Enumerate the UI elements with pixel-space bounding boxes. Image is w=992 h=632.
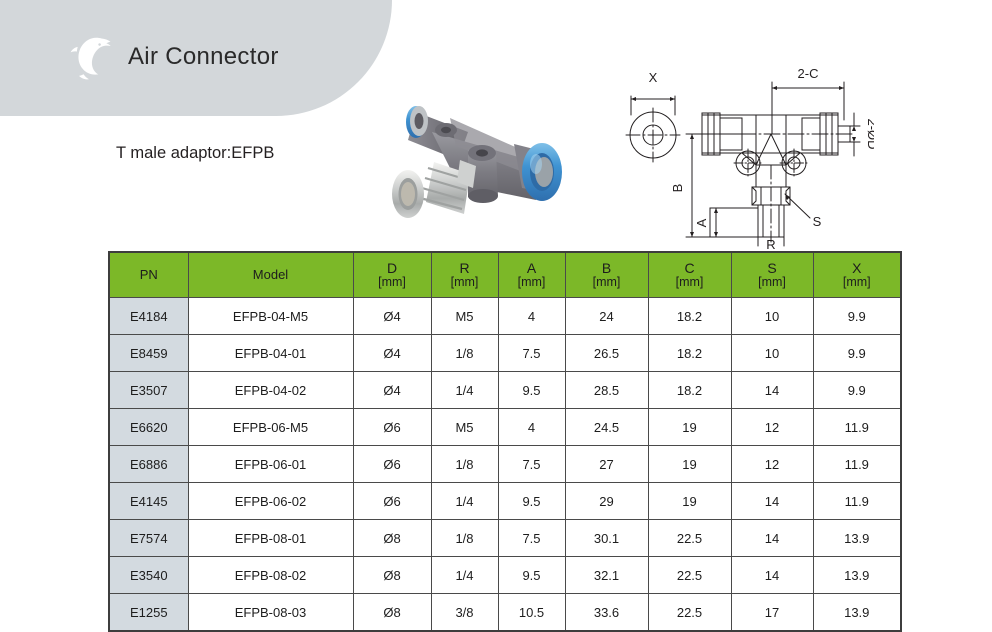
table-cell-x: 9.9 [813, 372, 901, 409]
table-cell-b: 30.1 [565, 520, 648, 557]
table-cell-d: Ø8 [353, 520, 431, 557]
drawing-end-view [626, 96, 680, 162]
column-header-b: B [mm] [565, 252, 648, 298]
table-cell-b: 33.6 [565, 594, 648, 632]
table-cell-a: 9.5 [498, 557, 565, 594]
table-cell-d: Ø4 [353, 298, 431, 335]
table-cell-x: 11.9 [813, 483, 901, 520]
column-header-pn: PN [109, 252, 188, 298]
table-cell-c: 18.2 [648, 335, 731, 372]
column-header-c: C [mm] [648, 252, 731, 298]
table-cell-d: Ø4 [353, 372, 431, 409]
table-cell-r: 3/8 [431, 594, 498, 632]
table-cell-s: 10 [731, 335, 813, 372]
table-cell-a: 9.5 [498, 372, 565, 409]
table-cell-a: 9.5 [498, 483, 565, 520]
table-cell-s: 14 [731, 557, 813, 594]
drawing-label-a: A [694, 218, 709, 227]
table-cell-b: 27 [565, 446, 648, 483]
table-cell-model: EFPB-04-01 [188, 335, 353, 372]
table-cell-a: 7.5 [498, 335, 565, 372]
table-cell-r: 1/4 [431, 557, 498, 594]
table-cell-a: 7.5 [498, 446, 565, 483]
table-cell-b: 32.1 [565, 557, 648, 594]
technical-drawing: X 2-C 2-ØD B A S R [622, 58, 874, 250]
table-cell-d: Ø8 [353, 557, 431, 594]
product-subtitle: T male adaptor:EFPB [116, 144, 274, 163]
table-row: E3540EFPB-08-02Ø81/49.532.122.51413.9 [109, 557, 901, 594]
column-header-a: A [mm] [498, 252, 565, 298]
table-cell-x: 11.9 [813, 409, 901, 446]
table-cell-b: 24 [565, 298, 648, 335]
table-cell-b: 24.5 [565, 409, 648, 446]
table-cell-c: 22.5 [648, 520, 731, 557]
drawing-label-2c: 2-C [798, 66, 819, 81]
table-cell-model: EFPB-08-02 [188, 557, 353, 594]
table-cell-x: 13.9 [813, 594, 901, 632]
drawing-label-x: X [649, 70, 658, 85]
table-cell-a: 4 [498, 409, 565, 446]
table-cell-c: 19 [648, 483, 731, 520]
table-cell-s: 12 [731, 409, 813, 446]
table-cell-c: 22.5 [648, 557, 731, 594]
table-cell-model: EFPB-04-M5 [188, 298, 353, 335]
table-cell-c: 18.2 [648, 372, 731, 409]
table-cell-pn: E4145 [109, 483, 188, 520]
table-row: E7574EFPB-08-01Ø81/87.530.122.51413.9 [109, 520, 901, 557]
product-photo [372, 88, 568, 246]
table-cell-r: M5 [431, 409, 498, 446]
table-cell-d: Ø6 [353, 483, 431, 520]
drawing-label-r: R [766, 237, 775, 250]
dim-a [710, 208, 758, 237]
table-cell-x: 13.9 [813, 520, 901, 557]
table-cell-s: 12 [731, 446, 813, 483]
table-cell-pn: E3507 [109, 372, 188, 409]
table-row: E8459EFPB-04-01Ø41/87.526.518.2109.9 [109, 335, 901, 372]
table-cell-r: 1/4 [431, 372, 498, 409]
table-cell-c: 18.2 [648, 298, 731, 335]
drawing-label-s: S [813, 214, 822, 229]
column-header-d: D [mm] [353, 252, 431, 298]
table-cell-d: Ø8 [353, 594, 431, 632]
spec-table-container: PN Model D [mm] R [mm] A [mm] [108, 251, 900, 632]
table-cell-s: 10 [731, 298, 813, 335]
table-row: E3507EFPB-04-02Ø41/49.528.518.2149.9 [109, 372, 901, 409]
table-cell-x: 11.9 [813, 446, 901, 483]
column-header-r: R [mm] [431, 252, 498, 298]
drawing-label-b: B [670, 184, 685, 193]
column-header-x: X [mm] [813, 252, 901, 298]
table-cell-pn: E4184 [109, 298, 188, 335]
table-cell-pn: E3540 [109, 557, 188, 594]
table-cell-x: 13.9 [813, 557, 901, 594]
table-cell-a: 10.5 [498, 594, 565, 632]
table-cell-b: 29 [565, 483, 648, 520]
table-cell-model: EFPB-06-02 [188, 483, 353, 520]
table-cell-pn: E7574 [109, 520, 188, 557]
table-cell-a: 7.5 [498, 520, 565, 557]
table-cell-model: EFPB-04-02 [188, 372, 353, 409]
column-header-model: Model [188, 252, 353, 298]
table-cell-pn: E6886 [109, 446, 188, 483]
table-cell-pn: E6620 [109, 409, 188, 446]
spec-table-header-row: PN Model D [mm] R [mm] A [mm] [109, 252, 901, 298]
dim-2c [772, 82, 844, 134]
spec-table-body: E4184EFPB-04-M5Ø4M542418.2109.9E8459EFPB… [109, 298, 901, 632]
table-cell-c: 19 [648, 409, 731, 446]
table-row: E1255EFPB-08-03Ø83/810.533.622.51713.9 [109, 594, 901, 632]
table-cell-s: 14 [731, 372, 813, 409]
table-cell-model: EFPB-06-M5 [188, 409, 353, 446]
table-row: E4145EFPB-06-02Ø61/49.529191411.9 [109, 483, 901, 520]
column-header-s: S [mm] [731, 252, 813, 298]
table-cell-c: 19 [648, 446, 731, 483]
table-cell-s: 14 [731, 483, 813, 520]
table-row: E6620EFPB-06-M5Ø6M5424.5191211.9 [109, 409, 901, 446]
spec-table: PN Model D [mm] R [mm] A [mm] [108, 251, 902, 632]
drawing-tee-body [692, 113, 854, 177]
table-cell-x: 9.9 [813, 335, 901, 372]
table-cell-r: 1/4 [431, 483, 498, 520]
table-cell-s: 14 [731, 520, 813, 557]
table-cell-r: M5 [431, 298, 498, 335]
brand-title: Air Connector [128, 43, 279, 71]
table-cell-pn: E8459 [109, 335, 188, 372]
table-cell-pn: E1255 [109, 594, 188, 632]
table-cell-d: Ø4 [353, 335, 431, 372]
table-cell-r: 1/8 [431, 335, 498, 372]
table-cell-b: 28.5 [565, 372, 648, 409]
dolphin-icon [68, 32, 114, 82]
table-row: E4184EFPB-04-M5Ø4M542418.2109.9 [109, 298, 901, 335]
table-cell-d: Ø6 [353, 409, 431, 446]
drawing-label-2phid: 2-ØD [865, 118, 874, 149]
table-cell-b: 26.5 [565, 335, 648, 372]
table-cell-c: 22.5 [648, 594, 731, 632]
table-cell-model: EFPB-06-01 [188, 446, 353, 483]
table-row: E6886EFPB-06-01Ø61/87.527191211.9 [109, 446, 901, 483]
table-cell-s: 17 [731, 594, 813, 632]
table-cell-model: EFPB-08-01 [188, 520, 353, 557]
photo-male-thread [392, 160, 476, 218]
dim-s [785, 194, 810, 218]
spec-table-head: PN Model D [mm] R [mm] A [mm] [109, 252, 901, 298]
brand-row: Air Connector [68, 32, 279, 82]
table-cell-r: 1/8 [431, 446, 498, 483]
table-cell-d: Ø6 [353, 446, 431, 483]
table-cell-a: 4 [498, 298, 565, 335]
table-cell-r: 1/8 [431, 520, 498, 557]
table-cell-model: EFPB-08-03 [188, 594, 353, 632]
table-cell-x: 9.9 [813, 298, 901, 335]
